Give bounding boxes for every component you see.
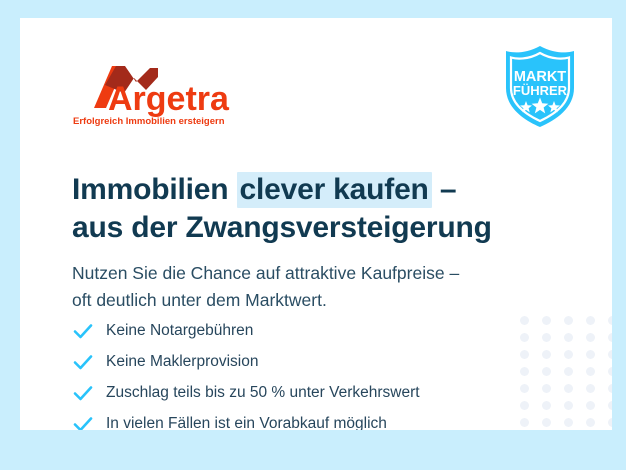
dot — [564, 367, 573, 376]
headline-line-1: Immobilien clever kaufen – — [72, 171, 572, 209]
dot — [564, 384, 573, 393]
page-title: Immobilien clever kaufen – aus der Zwang… — [72, 171, 572, 247]
dot-row — [520, 367, 612, 376]
headline-line-2: aus der Zwangsversteigerung — [72, 209, 572, 247]
dot — [608, 384, 612, 393]
dot-row — [520, 350, 612, 359]
headline-pre: Immobilien — [72, 173, 237, 206]
dot — [608, 350, 612, 359]
dot — [564, 316, 573, 325]
dot — [608, 333, 612, 342]
dot — [542, 350, 551, 359]
list-item-label: Zuschlag teils bis zu 50 % unter Verkehr… — [106, 384, 420, 402]
dot — [542, 333, 551, 342]
check-icon — [72, 413, 94, 430]
dot — [608, 316, 612, 325]
list-item-label: Keine Maklerprovision — [106, 353, 259, 371]
shield-badge-icon: MARKT FÜHRER — [494, 40, 586, 132]
list-item: In vielen Fällen ist ein Vorabkauf mögli… — [72, 409, 532, 430]
dot — [564, 333, 573, 342]
page-subtitle: Nutzen Sie die Chance auf attraktive Kau… — [72, 260, 572, 314]
check-icon — [72, 351, 94, 373]
dot-row — [520, 316, 612, 325]
page-frame: Argetra Erfolgreich Immobilien ersteiger… — [0, 0, 626, 470]
dot-grid-icon — [520, 316, 612, 430]
check-icon — [72, 320, 94, 342]
dot — [542, 401, 551, 410]
dot — [542, 367, 551, 376]
subtitle-line-2: oft deutlich unter dem Marktwert. — [72, 287, 572, 314]
dot-row — [520, 333, 612, 342]
badge-line2: FÜHRER — [513, 83, 568, 98]
list-item: Keine Maklerprovision — [72, 347, 532, 377]
headline-highlight: clever kaufen — [237, 172, 432, 208]
list-item-label: Keine Notargebühren — [106, 322, 253, 340]
dot — [586, 367, 595, 376]
dot — [608, 418, 612, 427]
dot-row — [520, 384, 612, 393]
dot — [586, 418, 595, 427]
check-icon — [72, 382, 94, 404]
dot — [542, 418, 551, 427]
list-item: Zuschlag teils bis zu 50 % unter Verkehr… — [72, 378, 532, 408]
dot — [542, 384, 551, 393]
dot — [586, 333, 595, 342]
dot — [586, 384, 595, 393]
dot — [608, 401, 612, 410]
dot — [586, 316, 595, 325]
dot-row — [520, 401, 612, 410]
logo-tagline: Erfolgreich Immobilien ersteigern — [73, 116, 225, 127]
dot — [564, 401, 573, 410]
dot — [542, 316, 551, 325]
list-item-label: In vielen Fällen ist ein Vorabkauf mögli… — [106, 415, 387, 430]
headline-post: – — [432, 173, 457, 206]
benefit-list: Keine Notargebühren Keine Maklerprovisio… — [72, 316, 532, 430]
subtitle-line-1: Nutzen Sie die Chance auf attraktive Kau… — [72, 260, 572, 287]
dot — [608, 367, 612, 376]
list-item: Keine Notargebühren — [72, 316, 532, 346]
argetra-logo[interactable]: Argetra Erfolgreich Immobilien ersteiger… — [72, 60, 252, 128]
dot — [564, 350, 573, 359]
dot — [564, 418, 573, 427]
content-card: Argetra Erfolgreich Immobilien ersteiger… — [20, 18, 612, 430]
logo-wordmark: Argetra — [108, 80, 230, 118]
dot-row — [520, 418, 612, 427]
dot — [586, 401, 595, 410]
dot — [586, 350, 595, 359]
